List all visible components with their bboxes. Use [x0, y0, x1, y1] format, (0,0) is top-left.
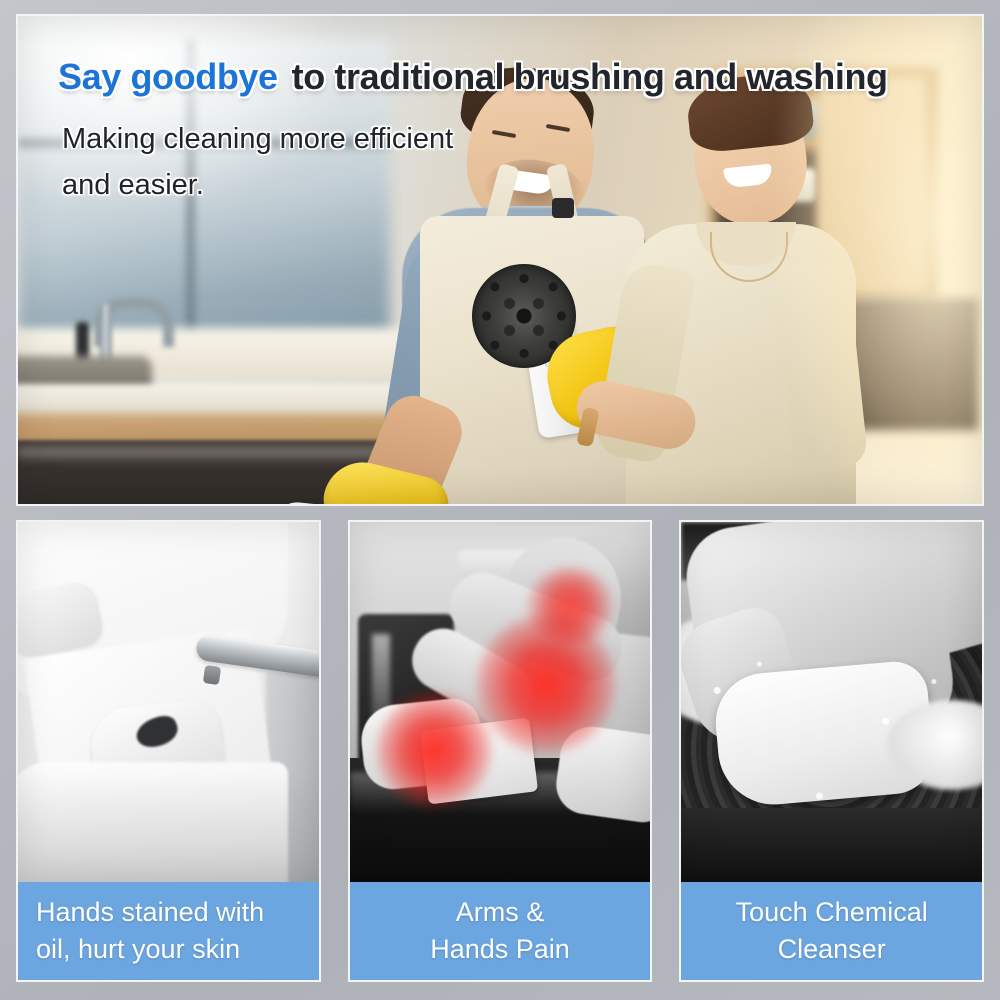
- card-1-caption: Hands stained withoil, hurt your skin: [16, 882, 321, 982]
- card-3-photo: [679, 520, 984, 882]
- headline-highlight: Say goodbye: [58, 56, 278, 97]
- pain-point-card-3: Touch ChemicalCleanser: [679, 520, 984, 982]
- hero-text-overlay: Say goodbyeto traditional brushing and w…: [18, 16, 982, 504]
- pain-point-cards: Hands stained withoil, hurt your skin: [16, 520, 984, 982]
- card-2-caption: Arms &Hands Pain: [348, 882, 653, 982]
- hero-headline: Say goodbyeto traditional brushing and w…: [58, 56, 888, 98]
- card-3-caption-text: Touch ChemicalCleanser: [736, 894, 928, 968]
- card-1-shadow: [18, 772, 319, 882]
- card-3-bottom-shadow: [681, 808, 982, 882]
- pain-point-card-2: Arms &Hands Pain: [348, 520, 653, 982]
- card-1-photo: [16, 520, 321, 882]
- headline-rest: to traditional brushing and washing: [292, 56, 888, 97]
- hero-subheadline: Making cleaning more efficient and easie…: [62, 116, 462, 208]
- pain-marker-elbow: [476, 614, 616, 754]
- card-2-photo: [348, 520, 653, 882]
- infographic-stage: Say goodbyeto traditional brushing and w…: [0, 0, 1000, 1000]
- hero-panel: Say goodbyeto traditional brushing and w…: [16, 14, 984, 506]
- pain-marker-wrist: [376, 692, 492, 808]
- card-3-caption: Touch ChemicalCleanser: [679, 882, 984, 982]
- card-1-faucet-spout: [203, 665, 221, 685]
- pain-point-card-1: Hands stained withoil, hurt your skin: [16, 520, 321, 982]
- card-1-caption-text: Hands stained withoil, hurt your skin: [36, 894, 264, 968]
- card-2-caption-text: Arms &Hands Pain: [430, 894, 570, 968]
